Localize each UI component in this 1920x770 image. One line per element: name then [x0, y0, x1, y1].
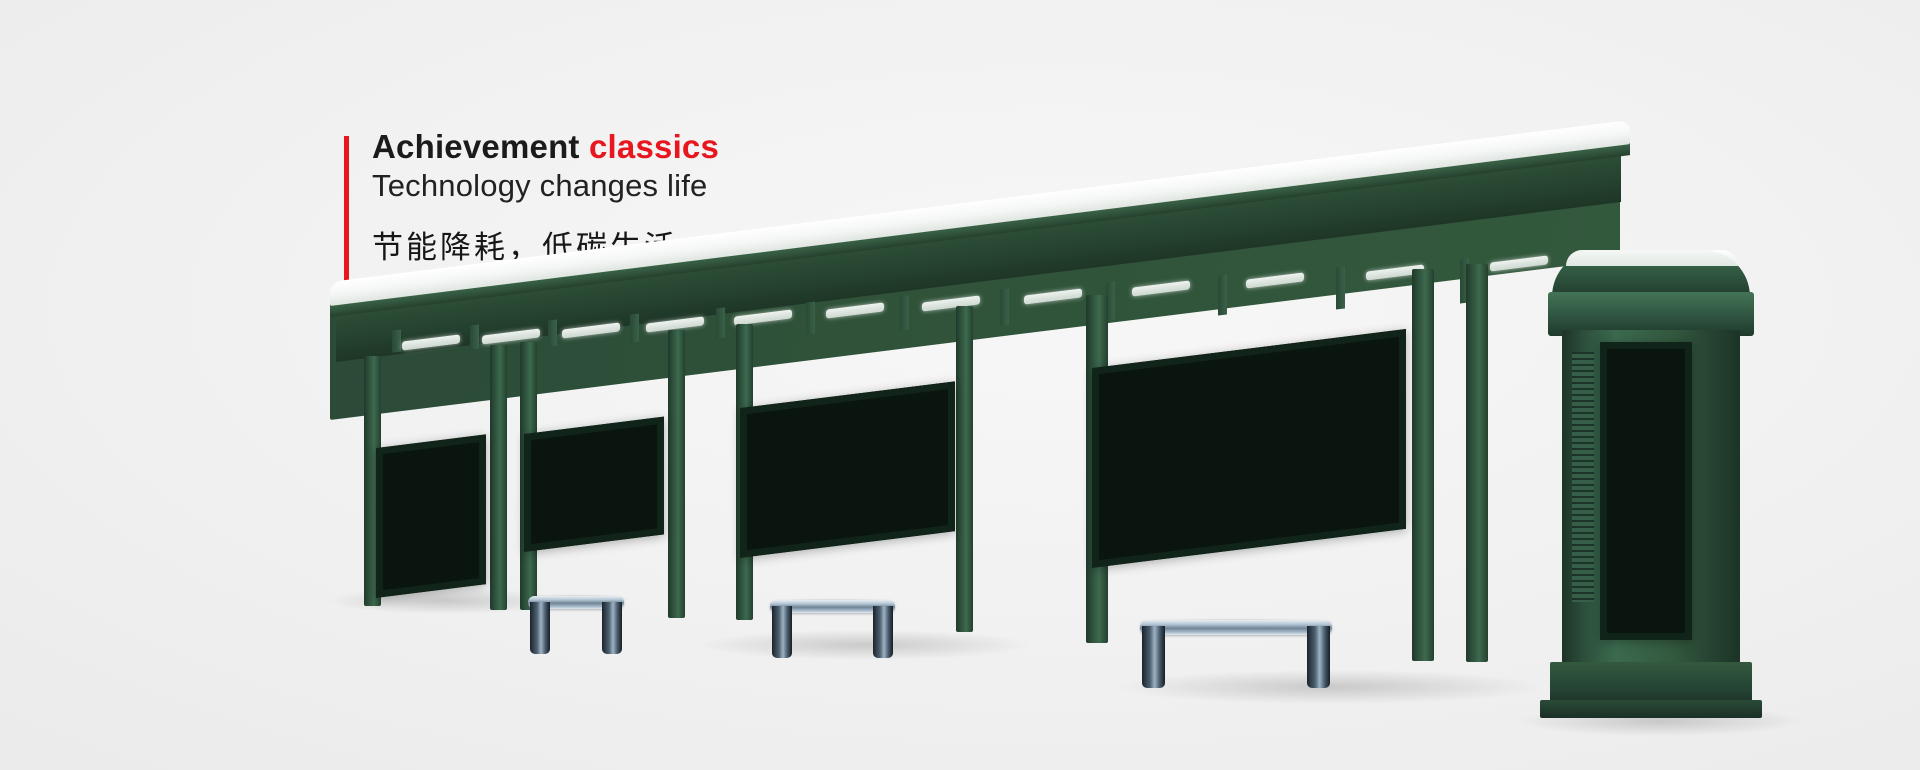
canopy-beam [716, 307, 725, 338]
bench-leg [602, 602, 622, 654]
canopy-beam [900, 295, 909, 330]
shelter-post [956, 306, 973, 632]
bench-seat [1140, 620, 1332, 635]
panel-water-animals-frame [740, 381, 955, 558]
panel-ngo-poster-frame [1600, 342, 1692, 640]
bus-shelter-illustration: 零陵体育馆 Lingling Gymnasium 3 5 13 [0, 0, 1920, 770]
panel-love-harmony-frame [524, 417, 664, 552]
panel-route-board-frame [376, 434, 486, 598]
canopy-beam [392, 329, 401, 352]
bench-leg [873, 606, 893, 658]
shelter-post [1412, 269, 1434, 661]
shelter-post [668, 330, 685, 618]
tower-roof-highlight [1566, 250, 1738, 266]
bench-leg [1307, 626, 1330, 688]
product-banner-stage: Achievement classics Technology changes … [0, 0, 1920, 770]
panel-water-globe-frame [1092, 329, 1406, 568]
panel-route-board[interactable]: 零陵体育馆 Lingling Gymnasium 3 5 13 [376, 434, 486, 598]
panel-water-animals[interactable]: 水，是我们赖以生存的宝贵资源…… [740, 381, 955, 558]
ground-shadow-right [1120, 670, 1540, 704]
canopy-beam [470, 324, 479, 349]
bench-leg [530, 602, 550, 654]
panel-ngo-poster[interactable]: 环保 [1600, 342, 1692, 640]
panel-water-globe[interactable]: 水 人类赖以生存的生命之源 [1092, 329, 1406, 568]
shelter-post [1466, 264, 1488, 662]
canopy-beam [630, 313, 639, 342]
canopy-beam [1336, 266, 1345, 309]
bench-leg [772, 606, 792, 658]
canopy-beam [1218, 274, 1227, 315]
tower-plinth [1540, 700, 1762, 718]
panel-love-harmony[interactable]: 爱5和谐 [524, 417, 664, 552]
canopy-beam [548, 319, 557, 346]
tower-vent-grille [1572, 352, 1594, 602]
canopy-beam [1000, 288, 1009, 325]
bench-leg [1142, 626, 1165, 688]
canopy-beam [806, 301, 815, 334]
shelter-post [490, 345, 507, 610]
ground-shadow-mid [700, 630, 1030, 660]
